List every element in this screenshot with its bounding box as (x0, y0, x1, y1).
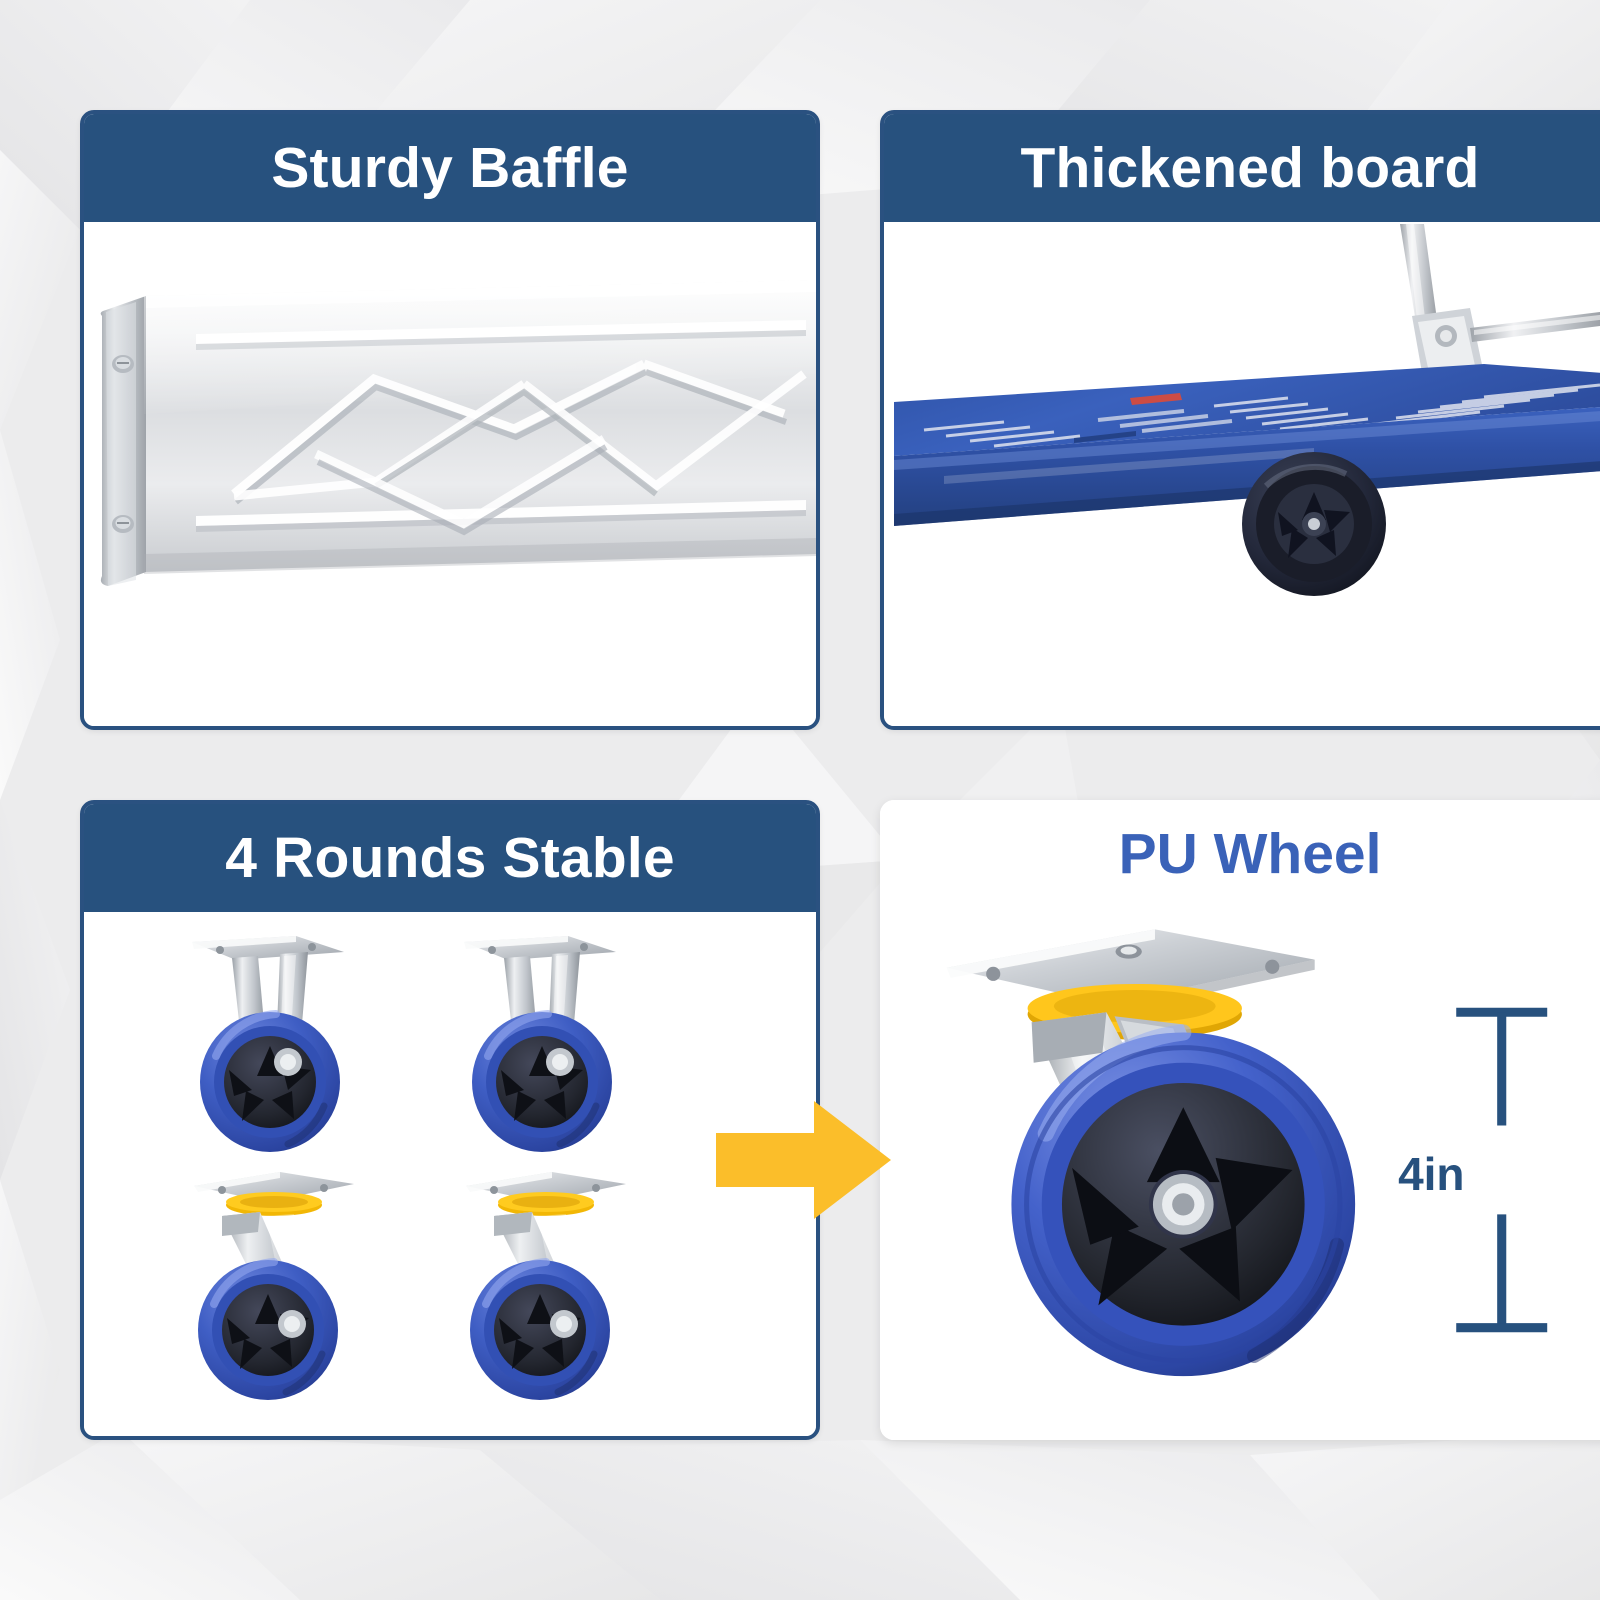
arrow-shape (716, 1101, 891, 1219)
panel-title-sturdy-baffle: Sturdy Baffle (84, 114, 816, 222)
card-sturdy-baffle: Sturdy Baffle (80, 110, 820, 730)
platform-cart-deck-illustration (884, 222, 1600, 726)
caster-swivel-bottom-left (194, 1172, 354, 1400)
panel-image-pu-wheel: 4in (880, 908, 1600, 1440)
screw-upper (112, 355, 134, 373)
cart-handle-post (1400, 224, 1600, 384)
right-arrow-icon (716, 1095, 891, 1225)
aluminum-baffle-illustration (84, 222, 816, 726)
caster-swivel-bottom-right (466, 1172, 626, 1400)
panel-image-thickened-board (884, 222, 1600, 726)
panel-sturdy-baffle: Sturdy Baffle (80, 110, 820, 730)
panel-title-pu-wheel: PU Wheel (880, 800, 1600, 908)
pu-wheel-body (1011, 1032, 1355, 1376)
card-thickened-board: Thickened board (880, 110, 1600, 730)
screw-lower (112, 515, 134, 533)
deck-caster-wheel (1242, 452, 1386, 596)
panel-image-four-casters (84, 912, 816, 1436)
panel-four-rounds-stable: 4 Rounds Stable (80, 800, 820, 1440)
panel-thickened-board: Thickened board (880, 110, 1600, 730)
panel-image-sturdy-baffle (84, 222, 816, 726)
dimension-label-4in: 4in (1398, 1151, 1464, 1197)
pu-wheel-illustration (880, 908, 1600, 1440)
card-pu-wheel: PU Wheel (880, 800, 1600, 1440)
card-four-rounds-stable: 4 Rounds Stable (80, 800, 820, 1440)
panel-title-four-rounds-stable: 4 Rounds Stable (84, 804, 816, 912)
dimension-indicator-4in (1456, 1012, 1547, 1327)
four-casters-illustration (84, 912, 816, 1436)
caster-rigid-top-left (192, 936, 344, 1152)
panel-pu-wheel: PU Wheel (880, 800, 1600, 1440)
panel-title-thickened-board: Thickened board (884, 114, 1600, 222)
caster-rigid-top-right (464, 936, 616, 1152)
